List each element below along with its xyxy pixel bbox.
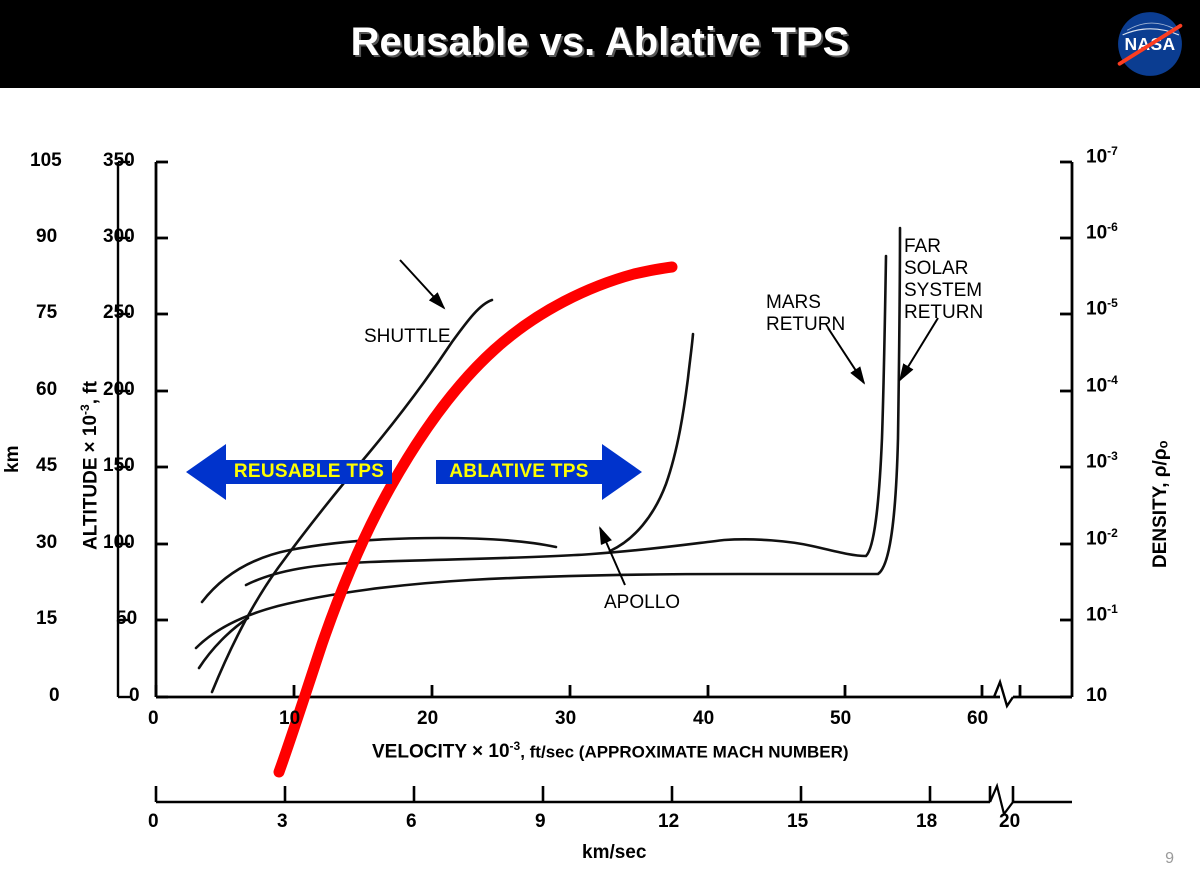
curve-apollo bbox=[610, 334, 693, 551]
chart-canvas: REUSABLE TPS ABLATIVE TPS SHUTTLE APOLLO… bbox=[0, 88, 1200, 880]
vel-tick-20: 20 bbox=[417, 708, 438, 730]
velocity-title-word: VELOCITY bbox=[372, 741, 467, 762]
density-exp-6: -2 bbox=[1107, 526, 1118, 540]
km-tick-0: 0 bbox=[49, 685, 60, 707]
density-tick-3: 10-5 bbox=[1086, 296, 1118, 320]
kmsec-tick-18: 18 bbox=[916, 811, 937, 833]
kmsec-tick-9: 9 bbox=[535, 811, 546, 833]
vel-tick-0: 0 bbox=[148, 708, 159, 730]
km-tick-60: 60 bbox=[36, 379, 57, 401]
reusable-tps-label: REUSABLE TPS bbox=[226, 450, 392, 494]
velocity-title-unit: , ft/sec (APPROXIMATE MACH NUMBER) bbox=[520, 742, 848, 761]
mars-return-label: MARS RETURN bbox=[766, 292, 845, 336]
curve-short-segment bbox=[199, 618, 248, 668]
kmsec-tick-20: 20 bbox=[999, 811, 1020, 833]
density-tick-4: 10-4 bbox=[1086, 373, 1118, 397]
alt-tick-50: 50 bbox=[116, 608, 137, 630]
altitude-title-exponent: -3 bbox=[78, 404, 92, 415]
curve-corridor-lower bbox=[196, 228, 900, 648]
curve-shuttle bbox=[212, 300, 492, 692]
ablative-tps-label: ABLATIVE TPS bbox=[436, 450, 602, 494]
density-exp-7: -1 bbox=[1107, 602, 1118, 616]
vel-tick-30: 30 bbox=[555, 708, 576, 730]
shuttle-label: SHUTTLE bbox=[364, 326, 451, 348]
km-tick-75: 75 bbox=[36, 302, 57, 324]
altitude-axis-title: ALTITUDE× 10-3, ft bbox=[78, 381, 102, 550]
density-tick-8: 10 bbox=[1086, 685, 1107, 707]
ablative-tps-banner: ABLATIVE TPS bbox=[436, 450, 642, 494]
density-axis bbox=[1060, 162, 1072, 697]
title-bar: Reusable vs. Ablative TPS NASA bbox=[0, 0, 1200, 88]
alt-tick-300: 300 bbox=[103, 226, 135, 248]
alt-tick-150: 150 bbox=[103, 455, 135, 477]
vel-tick-10: 10 bbox=[279, 708, 300, 730]
alt-tick-100: 100 bbox=[103, 532, 135, 554]
density-exp-5: -3 bbox=[1107, 449, 1118, 463]
kmsec-tick-3: 3 bbox=[277, 811, 288, 833]
alt-tick-0: 0 bbox=[129, 685, 140, 707]
density-tick-5: 10-3 bbox=[1086, 449, 1118, 473]
density-tick-6: 10-2 bbox=[1086, 526, 1118, 550]
kmsec-tick-12: 12 bbox=[658, 811, 679, 833]
mars-return-arrow bbox=[828, 328, 864, 383]
far-solar-system-return-label: FAR SOLAR SYSTEM RETURN bbox=[904, 236, 983, 323]
density-exp-2: -6 bbox=[1107, 220, 1118, 234]
vel-tick-50: 50 bbox=[830, 708, 851, 730]
km-tick-15: 15 bbox=[36, 608, 57, 630]
reusable-tps-banner: REUSABLE TPS bbox=[186, 450, 392, 494]
km-axis-title: km bbox=[2, 446, 24, 473]
density-tick-2: 10-6 bbox=[1086, 220, 1118, 244]
km-tick-30: 30 bbox=[36, 532, 57, 554]
kmsec-axis-title: km/sec bbox=[582, 842, 646, 864]
km-tick-45: 45 bbox=[36, 455, 57, 477]
far-solar-return-arrow bbox=[900, 318, 938, 380]
density-exp-4: -4 bbox=[1107, 373, 1118, 387]
altitude-title-unit: , ft bbox=[80, 381, 101, 404]
alt-tick-250: 250 bbox=[103, 302, 135, 324]
velocity-axis-title: VELOCITY× 10-3, ft/sec (APPROXIMATE MACH… bbox=[372, 739, 849, 763]
page-title: Reusable vs. Ablative TPS bbox=[0, 20, 1200, 65]
curve-corridor-upper bbox=[202, 538, 556, 602]
velocity-title-mult: × 10 bbox=[472, 741, 510, 762]
vel-tick-60: 60 bbox=[967, 708, 988, 730]
kmsec-tick-15: 15 bbox=[787, 811, 808, 833]
altitude-title-mult: × 10 bbox=[80, 415, 101, 453]
velocity-title-exponent: -3 bbox=[510, 739, 521, 753]
km-tick-90: 90 bbox=[36, 226, 57, 248]
density-exp-1: -7 bbox=[1107, 144, 1118, 158]
density-tick-1: 10-7 bbox=[1086, 144, 1118, 168]
alt-tick-200: 200 bbox=[103, 379, 135, 401]
vel-tick-40: 40 bbox=[693, 708, 714, 730]
density-axis-title: DENSITY, ρ/ρₒ bbox=[1150, 441, 1172, 568]
nasa-logo-icon: NASA bbox=[1112, 6, 1188, 82]
altitude-title-word: ALTITUDE bbox=[80, 457, 101, 550]
kmsec-tick-0: 0 bbox=[148, 811, 159, 833]
kmsec-axis bbox=[156, 786, 1072, 814]
apollo-label: APOLLO bbox=[604, 592, 680, 614]
density-exp-3: -5 bbox=[1107, 296, 1118, 310]
slide-page-number: 9 bbox=[1165, 850, 1174, 868]
shuttle-arrow bbox=[400, 260, 444, 308]
density-tick-7: 10-1 bbox=[1086, 602, 1118, 626]
km-tick-105: 105 bbox=[30, 150, 62, 172]
kmsec-tick-6: 6 bbox=[406, 811, 417, 833]
alt-tick-350: 350 bbox=[103, 150, 135, 172]
